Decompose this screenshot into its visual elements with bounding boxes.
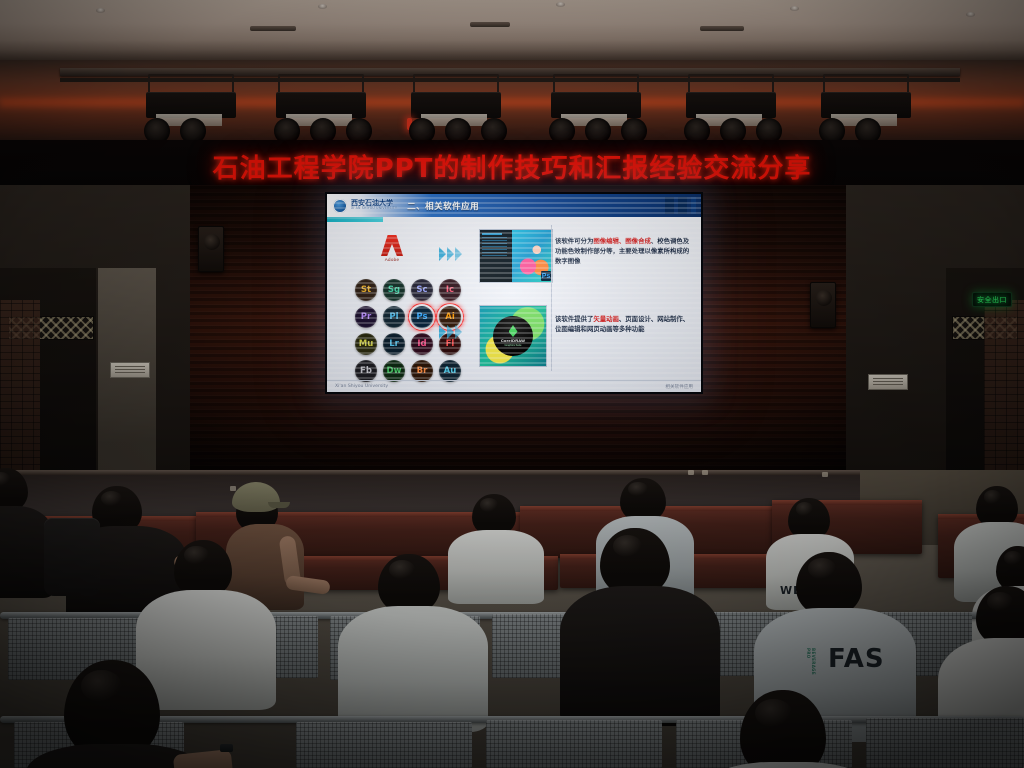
app-icon-br[interactable]: Br bbox=[411, 360, 433, 382]
wall-speaker bbox=[198, 226, 224, 272]
slide-vertical-divider bbox=[551, 225, 552, 371]
app-icon-pr[interactable]: Pr bbox=[355, 306, 377, 328]
header-decor-blocks bbox=[665, 197, 696, 214]
ceiling bbox=[0, 0, 1024, 66]
chair-back[interactable] bbox=[866, 718, 1024, 768]
app-icon-dw[interactable]: Dw bbox=[383, 360, 405, 382]
slide-footer: Xi'an Shiyou University 相关软件应用 bbox=[327, 380, 701, 392]
stage-light-cluster bbox=[140, 74, 248, 144]
cap-brim bbox=[268, 502, 290, 508]
app-icon-ic[interactable]: Ic bbox=[439, 279, 461, 301]
slide-section-title: 二、相关软件应用 bbox=[407, 200, 479, 212]
app-icon-pl[interactable]: Pl bbox=[383, 306, 405, 328]
ceiling-downlight bbox=[556, 2, 565, 7]
ceiling-downlight bbox=[790, 6, 799, 11]
app-icon-au[interactable]: Au bbox=[439, 360, 461, 382]
photoshop-description: 该软件可分为图像编辑、图像合成、校色调色及功能色效制作部分等，主要处理以像素所构… bbox=[555, 237, 693, 267]
led-banner-text: 石油工程学院PPT的制作技巧和汇报经验交流分享 bbox=[0, 148, 1024, 185]
slide-body: Adobe St Sg Sc Ic Pr Pl Ps Ai Mu Lr Id F… bbox=[327, 217, 701, 380]
coreldraw-desc-highlight: 矢量动画 bbox=[593, 315, 619, 323]
wall-plaque bbox=[110, 362, 150, 378]
wall-plaque bbox=[868, 374, 908, 390]
photoshop-splash-thumbnail: Ps bbox=[479, 229, 553, 283]
ceiling-downlight bbox=[966, 12, 975, 17]
app-icon-id[interactable]: Id bbox=[411, 333, 433, 355]
adobe-a-icon bbox=[381, 235, 403, 256]
stage-floor-marker bbox=[822, 472, 828, 477]
chair-back[interactable] bbox=[486, 720, 662, 768]
university-logo-icon bbox=[333, 199, 347, 213]
coreldraw-description: 该软件提供了矢量动画、页面设计、网站制作、位图编辑和网页动画等多种功能 bbox=[555, 315, 693, 335]
backpack bbox=[44, 518, 100, 596]
stage-floor-marker bbox=[702, 470, 708, 475]
university-name: 西安石油大学 XI'AN SHIYOU UNIVERSITY bbox=[351, 200, 397, 211]
app-icon-ps[interactable]: Ps bbox=[411, 306, 433, 328]
arrow-photoshop-icon bbox=[439, 247, 462, 261]
shirt-subtext: BEVERAGE PRO bbox=[806, 648, 816, 675]
coreldraw-balloon-icon bbox=[509, 325, 518, 337]
slide-footer-right: 相关软件应用 bbox=[665, 384, 693, 390]
stage-light-cluster bbox=[545, 74, 653, 144]
ceiling-downlight bbox=[318, 4, 327, 9]
adobe-logo: Adobe bbox=[379, 235, 405, 262]
app-icon-sg[interactable]: Sg bbox=[383, 279, 405, 301]
adobe-logo-caption: Adobe bbox=[379, 257, 405, 262]
app-icon-lr[interactable]: Lr bbox=[383, 333, 405, 355]
stage-floor-marker bbox=[688, 470, 694, 475]
app-icon-fb[interactable]: Fb bbox=[355, 360, 377, 382]
stage-light-cluster bbox=[270, 74, 378, 144]
coreldraw-subtitle: Graphics Suite bbox=[504, 344, 521, 347]
photoshop-desc-highlight: 图像编辑、图像合成 bbox=[593, 237, 651, 245]
auditorium-photo: 石油工程学院PPT的制作技巧和汇报经验交流分享 安全出口 西安石油大学 XI'A… bbox=[0, 0, 1024, 768]
app-icon-st[interactable]: St bbox=[355, 279, 377, 301]
app-icon-mu[interactable]: Mu bbox=[355, 333, 377, 355]
coreldraw-wordmark: CorelDRAW bbox=[501, 338, 525, 343]
brick-wall-strip bbox=[984, 300, 1024, 486]
coreldraw-splash-thumbnail: CorelDRAW Graphics Suite bbox=[479, 305, 547, 367]
photoshop-badge: Ps bbox=[541, 271, 551, 281]
brick-wall-strip bbox=[0, 300, 40, 486]
stage-floor-marker bbox=[230, 486, 236, 491]
ceiling-downlight bbox=[96, 8, 105, 13]
smartphone[interactable] bbox=[220, 744, 233, 752]
stage-light-cluster bbox=[815, 74, 923, 144]
slide-footer-left: Xi'an Shiyou University bbox=[335, 384, 388, 389]
app-icon-sc[interactable]: Sc bbox=[411, 279, 433, 301]
wall-speaker bbox=[810, 282, 836, 328]
exit-sign: 安全出口 bbox=[972, 292, 1012, 307]
arrow-coreldraw-icon bbox=[439, 325, 462, 339]
presentation-slide: 西安石油大学 XI'AN SHIYOU UNIVERSITY 二、相关软件应用 … bbox=[327, 194, 701, 392]
slide-header: 西安石油大学 XI'AN SHIYOU UNIVERSITY 二、相关软件应用 bbox=[327, 194, 701, 217]
chair-back[interactable] bbox=[296, 722, 472, 768]
stage-light-cluster bbox=[680, 74, 788, 144]
stage-light-cluster bbox=[405, 74, 513, 144]
projection-screen[interactable]: 西安石油大学 XI'AN SHIYOU UNIVERSITY 二、相关软件应用 … bbox=[325, 192, 703, 394]
shirt-text-fas: FAS bbox=[828, 644, 885, 674]
